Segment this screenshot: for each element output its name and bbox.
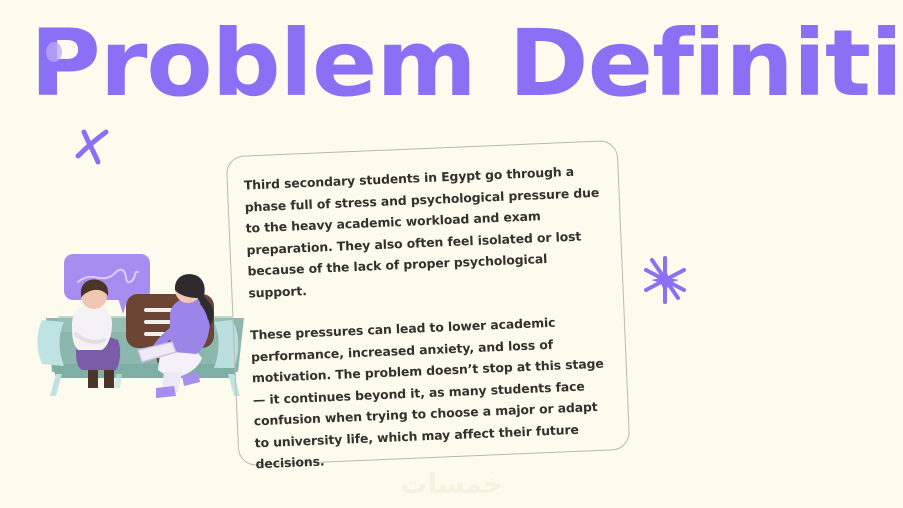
therapy-session-illustration	[32, 246, 254, 418]
title-dot-accent-icon	[46, 42, 62, 62]
definition-text-card: Third secondary students in Egypt go thr…	[226, 140, 631, 466]
page-title: Problem Definition	[30, 12, 903, 116]
sparkle-x-icon	[68, 122, 116, 170]
slide-canvas: Problem Definition	[0, 0, 903, 508]
paragraph-two: These pressures can lead to lower academ…	[250, 309, 614, 474]
watermark-text: خمسات	[0, 469, 903, 500]
sparkle-star-icon	[638, 252, 692, 308]
card-text-body: Third secondary students in Egypt go thr…	[227, 141, 630, 465]
paragraph-one: Third secondary students in Egypt go thr…	[243, 160, 606, 304]
